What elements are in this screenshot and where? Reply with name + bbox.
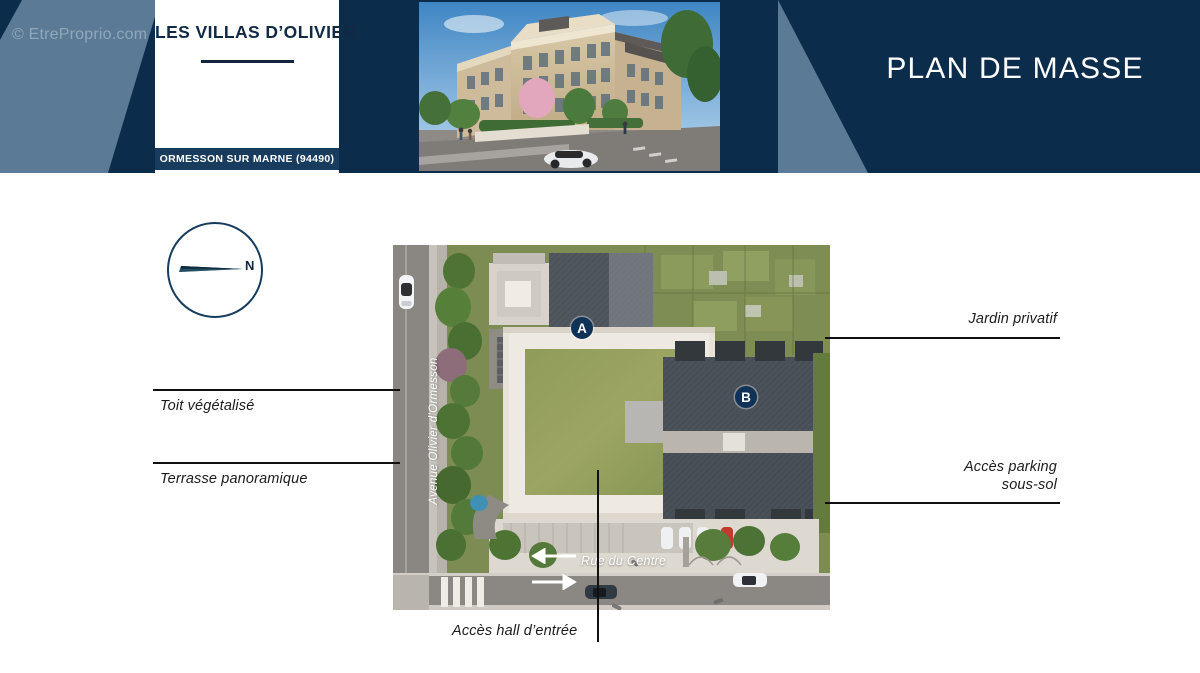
plan-de-masse-page: © EtreProprio.com LES VILLAS D’OLIVIER O… bbox=[0, 0, 1200, 673]
car-avenue bbox=[399, 275, 414, 309]
street-label-rue: Rue du Centre bbox=[581, 554, 666, 568]
street-label-avenue: Avenue Olivier d’Ormesson bbox=[428, 351, 440, 511]
compass-north-label: N bbox=[245, 258, 254, 273]
project-name: LES VILLAS D’OLIVIER bbox=[155, 22, 339, 43]
callout-label-parking: Accès parking sous-sol bbox=[800, 459, 1057, 494]
project-hero-photo bbox=[419, 2, 720, 171]
callout-label-toit: Toit végétalisé bbox=[160, 398, 254, 416]
page-title: PLAN DE MASSE bbox=[860, 52, 1170, 86]
logo-divider bbox=[201, 60, 294, 63]
project-logo-card: LES VILLAS D’OLIVIER ORMESSON SUR MARNE … bbox=[155, 0, 339, 173]
watermark-text: © EtreProprio.com bbox=[12, 26, 147, 44]
leader-line-toit bbox=[153, 389, 400, 391]
traffic-arrow-right-icon bbox=[522, 574, 578, 590]
leader-line-terrasse bbox=[153, 462, 400, 464]
traffic-arrow-left-icon bbox=[522, 548, 578, 564]
leader-line-hall bbox=[597, 470, 599, 642]
callout-label-hall: Accès hall d’entrée bbox=[452, 623, 577, 641]
callout-label-jardin: Jardin privatif bbox=[800, 311, 1057, 329]
leader-line-parking bbox=[825, 502, 1060, 504]
callout-label-parking-line2: sous-sol bbox=[800, 477, 1057, 495]
callout-label-terrasse: Terrasse panoramique bbox=[160, 471, 308, 489]
header-decor-triangle-right bbox=[748, 0, 868, 173]
car-rue-dark bbox=[585, 585, 617, 599]
page-header: © EtreProprio.com LES VILLAS D’OLIVIER O… bbox=[0, 0, 1200, 173]
compass-rose: N bbox=[167, 222, 272, 327]
project-city: ORMESSON SUR MARNE (94490) bbox=[155, 148, 339, 170]
building-badge-b[interactable]: B bbox=[735, 386, 757, 408]
hero-illustration bbox=[419, 2, 720, 171]
leader-line-jardin bbox=[825, 337, 1060, 339]
callout-label-parking-line1: Accès parking bbox=[800, 459, 1057, 477]
car-rue-light bbox=[733, 573, 767, 587]
building-badge-a[interactable]: A bbox=[571, 317, 593, 339]
